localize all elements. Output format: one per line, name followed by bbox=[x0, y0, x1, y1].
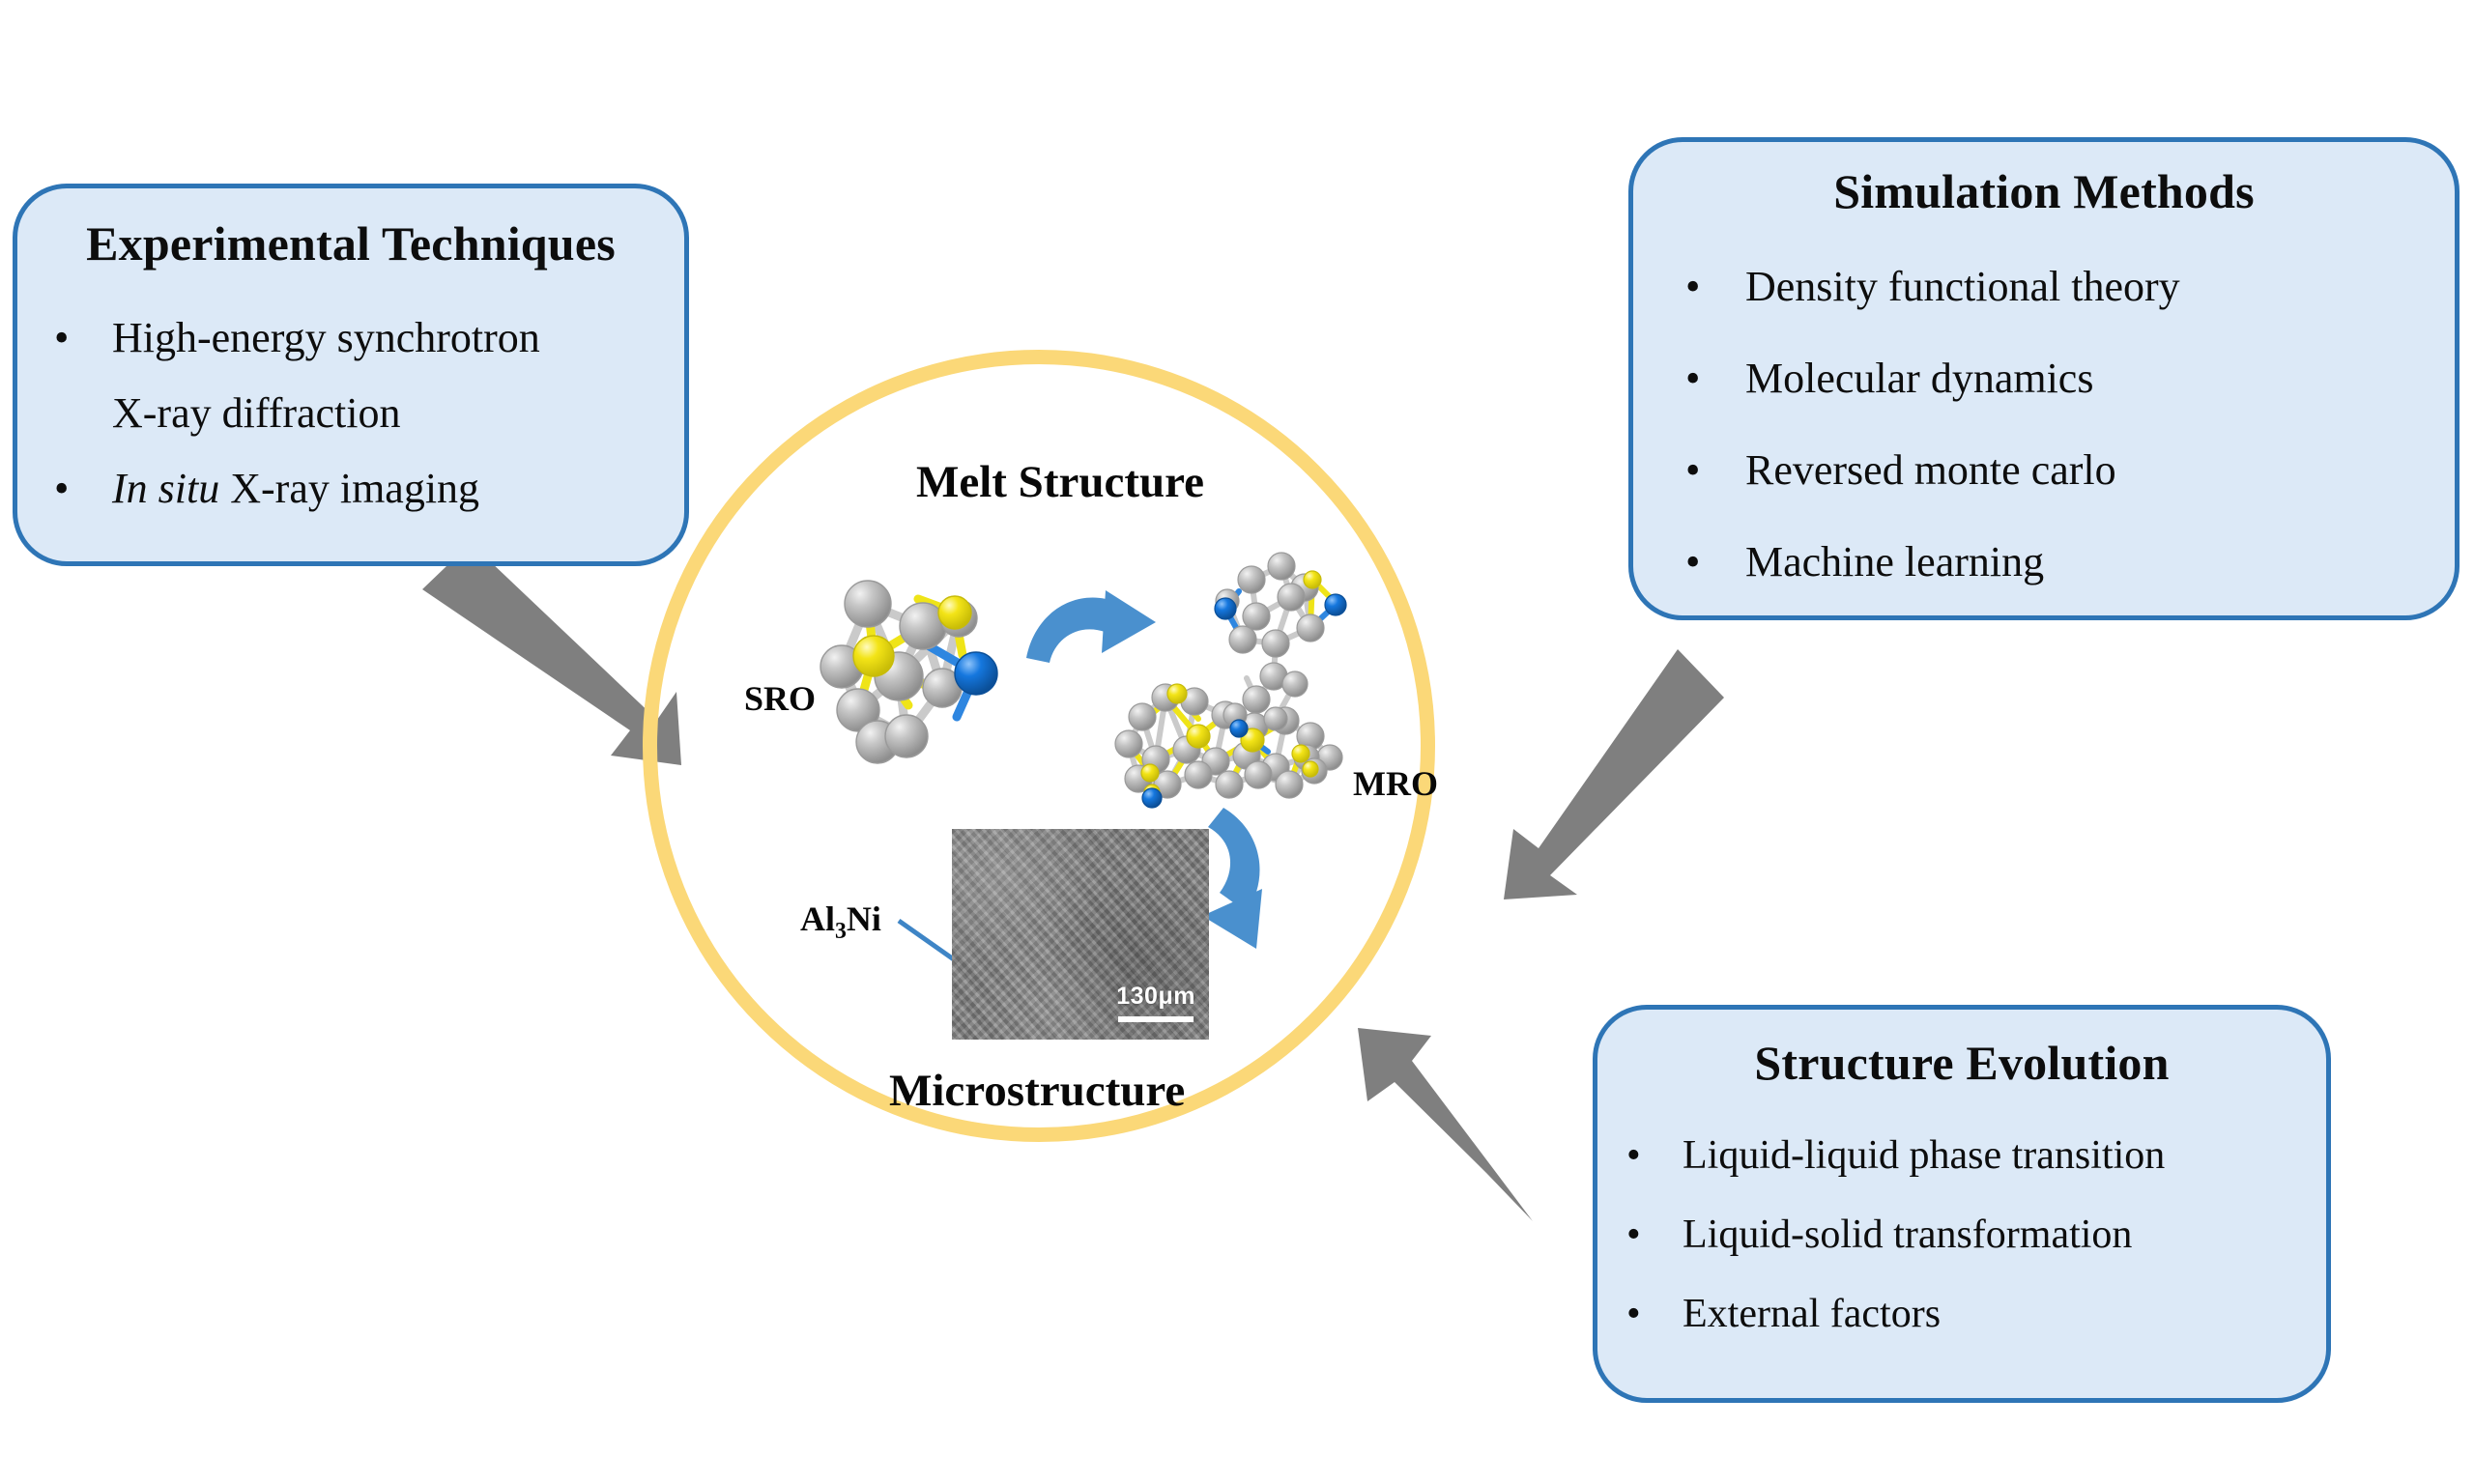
list-item-roman-part: X-ray imaging bbox=[219, 465, 479, 512]
structure-evolution-list: • Liquid-liquid phase transition • Liqui… bbox=[1626, 1116, 2326, 1354]
list-item[interactable]: • High-energy synchrotron X-ray diffract… bbox=[54, 300, 684, 451]
bullet-dot: • bbox=[1685, 241, 1700, 332]
experimental-techniques-list: • High-energy synchrotron X-ray diffract… bbox=[54, 300, 684, 527]
list-item-label: Liquid-solid transformation bbox=[1683, 1195, 2132, 1274]
al3ni-prefix: Al bbox=[800, 899, 835, 938]
simulation-methods-list: • Density functional theory • Molecular … bbox=[1685, 241, 2455, 608]
list-item-label: Reversed monte carlo bbox=[1745, 424, 2116, 516]
bullet-dot: • bbox=[1626, 1274, 1641, 1354]
list-item-italic-part: In situ bbox=[112, 465, 219, 512]
bullet-dot: • bbox=[1685, 424, 1700, 516]
list-item[interactable]: • Liquid-liquid phase transition bbox=[1626, 1116, 2326, 1195]
bullet-dot: • bbox=[1685, 516, 1700, 608]
list-item-continuation: X-ray diffraction bbox=[112, 376, 684, 451]
scale-bar-label: 130μm bbox=[1116, 983, 1195, 1011]
microstructure-label: Microstructure bbox=[889, 1065, 1185, 1117]
structure-evolution-box[interactable]: Structure Evolution • Liquid-liquid phas… bbox=[1593, 1005, 2331, 1403]
list-item[interactable]: • Reversed monte carlo bbox=[1685, 424, 2455, 516]
list-item-label: In situ X-ray imaging bbox=[112, 451, 479, 527]
simulation-methods-title: Simulation Methods bbox=[1633, 163, 2455, 219]
al3ni-subscript: 3 bbox=[835, 919, 847, 944]
list-item-label: Liquid-liquid phase transition bbox=[1683, 1116, 2165, 1195]
list-item-label: Molecular dynamics bbox=[1745, 332, 2093, 424]
al3ni-suffix: Ni bbox=[847, 899, 881, 938]
scale-bar-line bbox=[1118, 1016, 1194, 1022]
structure-evolution-title: Structure Evolution bbox=[1597, 1035, 2326, 1091]
gray-arrow-evolution-to-center bbox=[1358, 1028, 1533, 1221]
bullet-dot: • bbox=[54, 300, 69, 376]
list-item[interactable]: • In situ X-ray imaging bbox=[54, 451, 684, 527]
melt-structure-label: Melt Structure bbox=[916, 456, 1204, 508]
gray-arrow-simulation-to-center bbox=[1504, 649, 1724, 899]
list-item[interactable]: • Machine learning bbox=[1685, 516, 2455, 608]
mro-label: MRO bbox=[1353, 763, 1438, 804]
list-item[interactable]: • Liquid-solid transformation bbox=[1626, 1195, 2326, 1274]
experimental-techniques-title: Experimental Techniques bbox=[17, 215, 684, 271]
figure-canvas: Melt Structure Microstructure SRO MRO Al… bbox=[0, 0, 2474, 1484]
list-item-label: High-energy synchrotron bbox=[112, 300, 540, 376]
list-item[interactable]: • Density functional theory bbox=[1685, 241, 2455, 332]
bullet-dot: • bbox=[1626, 1195, 1641, 1274]
bullet-dot: • bbox=[1685, 332, 1700, 424]
list-item-label: Density functional theory bbox=[1745, 241, 2180, 332]
bullet-dot: • bbox=[54, 451, 69, 527]
experimental-techniques-box[interactable]: Experimental Techniques • High-energy sy… bbox=[13, 184, 689, 566]
list-item[interactable]: • External factors bbox=[1626, 1274, 2326, 1354]
list-item[interactable]: • Molecular dynamics bbox=[1685, 332, 2455, 424]
simulation-methods-box[interactable]: Simulation Methods • Density functional … bbox=[1628, 137, 2460, 620]
sro-label: SRO bbox=[744, 678, 816, 719]
list-item-label: Machine learning bbox=[1745, 516, 2044, 608]
bullet-dot: • bbox=[1626, 1116, 1641, 1195]
list-item-label: External factors bbox=[1683, 1274, 1941, 1354]
al3ni-phase-label: Al3Ni bbox=[800, 899, 881, 945]
microstructure-micrograph: 130μm bbox=[952, 829, 1209, 1040]
